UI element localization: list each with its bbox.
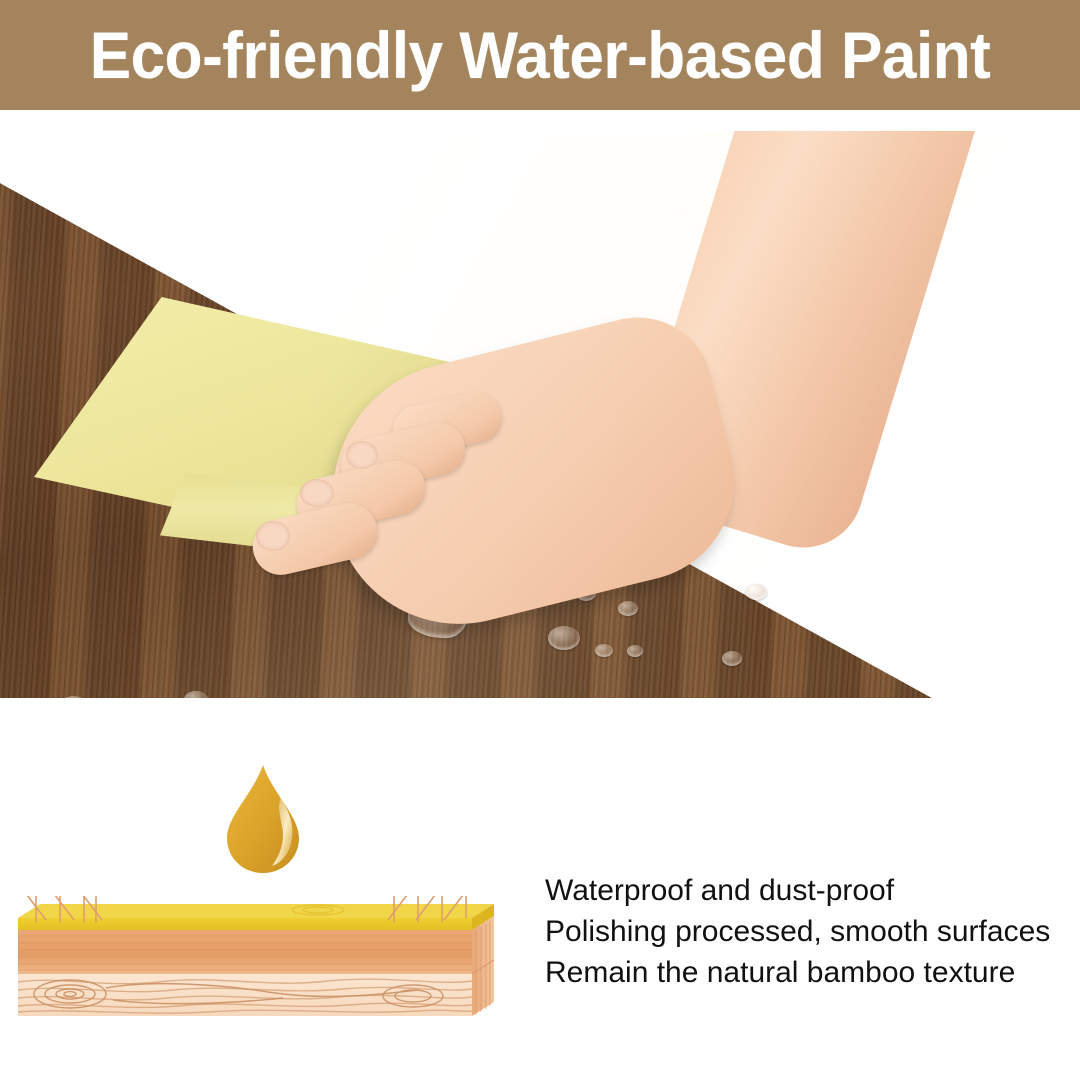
feature-line-1: Waterproof and dust-proof (545, 870, 1065, 911)
feature-line-2: Polishing processed, smooth surfaces (545, 911, 1065, 952)
water-droplet-icon (226, 764, 300, 874)
feature-line-3: Remain the natural bamboo texture (545, 952, 1065, 993)
water-droplet (595, 644, 613, 657)
water-droplet (722, 651, 742, 666)
waterproof-diagram (0, 756, 540, 1026)
water-droplet (627, 645, 643, 657)
water-droplet (548, 626, 580, 650)
page-title: Eco-friendly Water-based Paint (90, 17, 991, 93)
water-droplet (745, 584, 767, 600)
fingernail (346, 441, 378, 469)
feature-list: Waterproof and dust-proof Polishing proc… (545, 870, 1065, 993)
fingernail (300, 479, 334, 507)
water-droplet (618, 601, 638, 616)
fingernail (256, 521, 290, 551)
coated-bamboo-board (18, 896, 518, 1018)
header-banner: Eco-friendly Water-based Paint (0, 0, 1080, 110)
hand-wiping-table-photo (0, 131, 1080, 698)
product-infographic: Eco-friendly Water-based Paint (0, 0, 1080, 1080)
